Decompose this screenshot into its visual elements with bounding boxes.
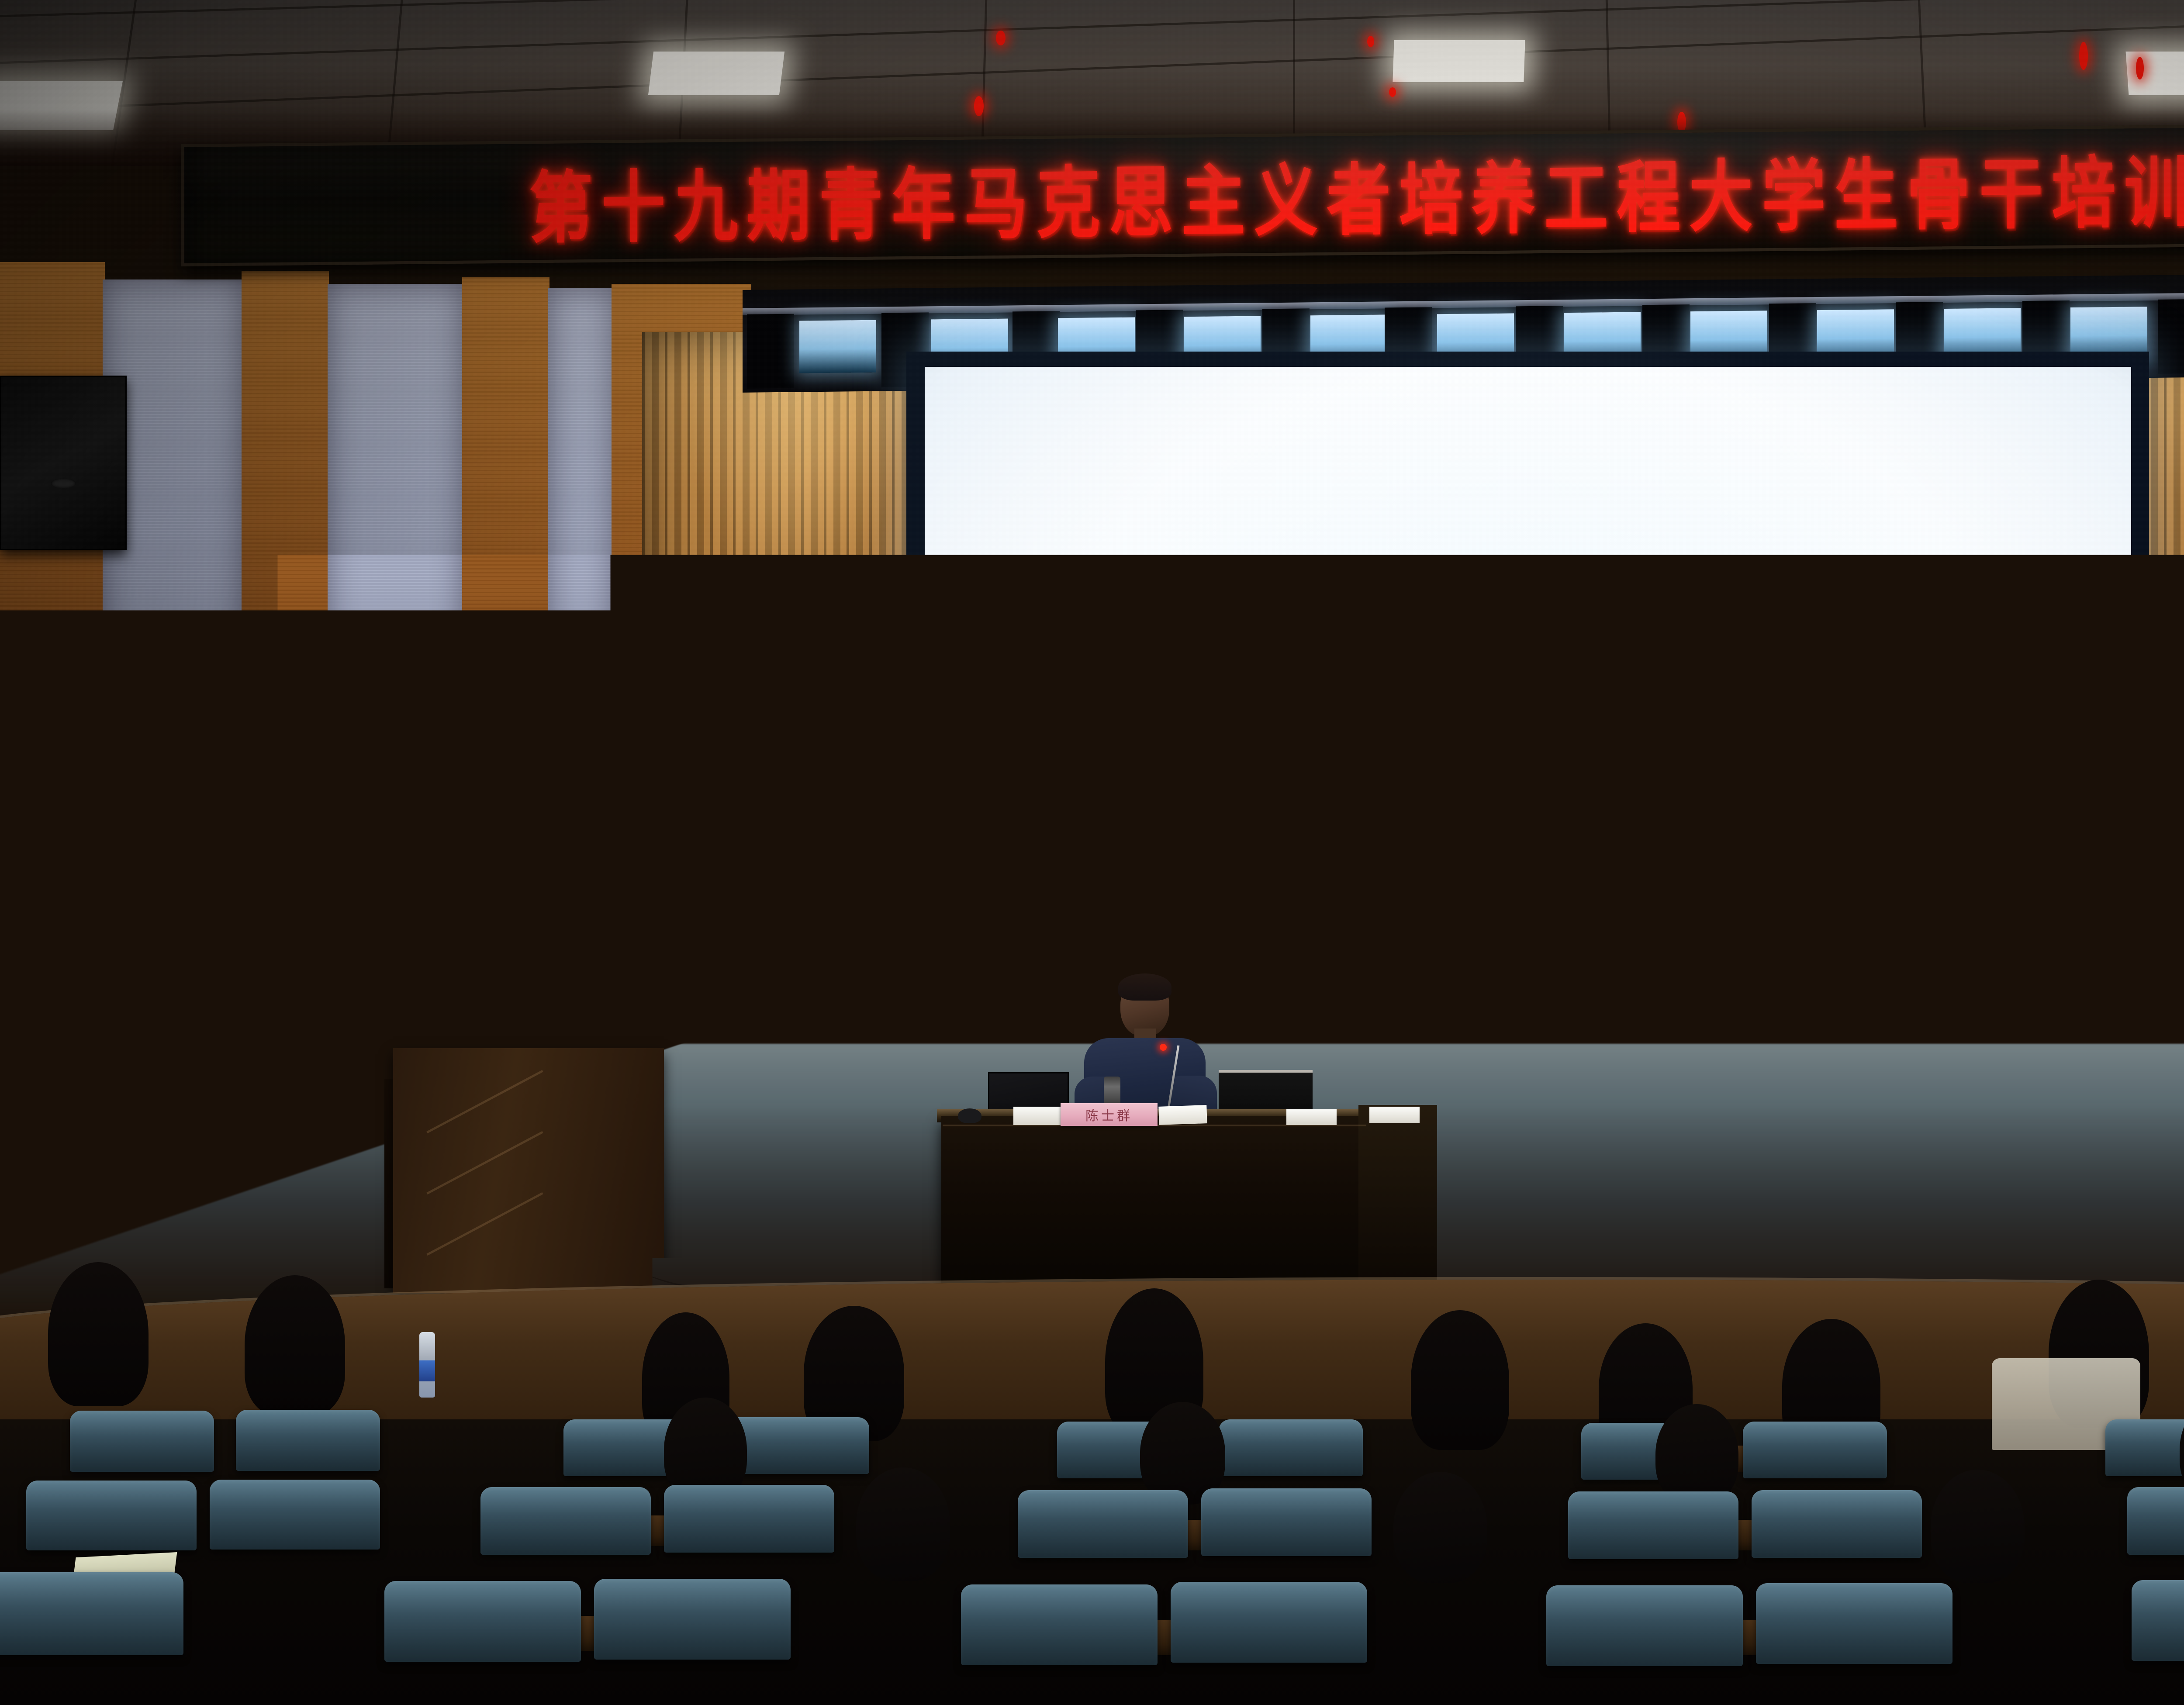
- audience-seat-c7[interactable]: [2132, 1580, 2184, 1661]
- podium-trim-3: [426, 1192, 543, 1256]
- microphone-led-indicator: [1160, 1044, 1167, 1051]
- slide-presenter: 主讲人：陈士群: [1421, 789, 1635, 825]
- audience-seat-a4[interactable]: [1219, 1419, 1363, 1476]
- stage-light-fixture-1: [799, 320, 876, 373]
- audience-seat-a9[interactable]: [70, 1411, 214, 1472]
- audience-seat-c1[interactable]: [384, 1581, 581, 1662]
- presenter-name-card-text: 陈士群: [1085, 1105, 1133, 1124]
- ceiling-light-4: [2126, 52, 2184, 95]
- slide-subtitle: ——浅谈我的教育观: [1306, 681, 1802, 747]
- audience-seat-d7[interactable]: [2127, 1672, 2184, 1705]
- truss-block-1: [747, 314, 794, 389]
- presenter-person: [1075, 976, 1214, 1120]
- audience-seat-a10[interactable]: [236, 1410, 380, 1471]
- wall-wood-left-2: [242, 271, 329, 996]
- audience-seat-b1[interactable]: [480, 1487, 651, 1555]
- audience-seat-d4[interactable]: [1109, 1674, 1345, 1705]
- stage-podium: [393, 1048, 664, 1293]
- led-banner-text: 第十九期青年马克思主义者培养工程大学生骨干培训班专题报告: [529, 126, 2184, 258]
- auditorium-photo: 第十九期青年马克思主义者培养工程大学生骨干培训班专题报告: [0, 0, 2184, 1705]
- led-reflection-6: [1389, 87, 1396, 97]
- paper-sheet-left: [1013, 1107, 1065, 1125]
- ceiling-light-2: [648, 52, 784, 95]
- water-bottle-label: [419, 1360, 435, 1381]
- audience-seat-b4[interactable]: [1201, 1488, 1372, 1556]
- audience-seat-b9[interactable]: [26, 1481, 197, 1550]
- audience-seat-c9[interactable]: [0, 1572, 183, 1655]
- audience-head-c2: [1393, 1472, 1487, 1583]
- paper-sheet-right: [1158, 1105, 1207, 1125]
- audience-seat-a7[interactable]: [2105, 1419, 2184, 1476]
- loudspeaker-icon-left: [0, 376, 127, 550]
- truss-block-12: [2158, 299, 2184, 374]
- projection-screen: 当代青年应有的价值取向 ——浅谈我的教育观 主讲人：陈士群: [925, 367, 2131, 1030]
- slide-title: 当代青年应有的价值取向: [1196, 598, 1859, 671]
- audience-head-r1-1: [48, 1262, 149, 1406]
- presenter-name-card: 陈士群: [1061, 1103, 1158, 1126]
- presenter-hair: [1118, 973, 1171, 1001]
- stage-curtain-left: [642, 332, 948, 1070]
- audience-seat-c6[interactable]: [1756, 1583, 1952, 1664]
- slide-content: 当代青年应有的价值取向 ——浅谈我的教育观 主讲人：陈士群: [925, 367, 2131, 1030]
- audience-head-b3: [1655, 1404, 1738, 1505]
- paper-sheet-far-2: [1369, 1107, 1420, 1123]
- audience-seat-d3[interactable]: [860, 1675, 1096, 1705]
- audience-seat-b2[interactable]: [664, 1485, 834, 1553]
- audience-seat-c2[interactable]: [594, 1579, 791, 1660]
- audience-head-r1-2: [245, 1275, 345, 1415]
- wall-panel-left-3: [548, 288, 614, 996]
- wall-wood-left-1: [0, 262, 105, 996]
- head-table: [941, 1116, 1367, 1293]
- paper-sheet-far: [1286, 1109, 1337, 1125]
- head-table-right-section: [1358, 1105, 1437, 1288]
- audience-head-c1: [856, 1467, 950, 1581]
- audience-seat-d1[interactable]: [227, 1673, 463, 1705]
- audience-seat-d9[interactable]: [0, 1668, 210, 1705]
- audience-seat-b7[interactable]: [2127, 1487, 2184, 1555]
- audience-seat-d2[interactable]: [476, 1670, 712, 1705]
- audience-seat-a6[interactable]: [1743, 1422, 1887, 1478]
- audience-head-c3: [1931, 1470, 2025, 1583]
- led-reflection-4: [2136, 57, 2144, 79]
- led-reflection-1: [996, 31, 1006, 45]
- audience-seat-c5[interactable]: [1546, 1585, 1743, 1666]
- mouse-icon: [958, 1108, 981, 1123]
- audience-seat-b3[interactable]: [1018, 1490, 1188, 1558]
- wall-wood-left-3: [462, 277, 549, 998]
- podium-trim-1: [426, 1070, 543, 1133]
- podium-trim-2: [426, 1131, 543, 1194]
- audience-seat-b5[interactable]: [1568, 1491, 1738, 1559]
- audience-head-r1-6: [1411, 1310, 1509, 1450]
- projection-screen-frame: 当代青年应有的价值取向 ——浅谈我的教育观 主讲人：陈士群: [906, 352, 2149, 1046]
- led-reflection-2: [1367, 36, 1374, 47]
- audience-seat-b10[interactable]: [210, 1480, 380, 1550]
- led-reflection-3: [2079, 42, 2088, 70]
- audience-seat-d5[interactable]: [1494, 1676, 1730, 1705]
- audience-seat-c4[interactable]: [1171, 1582, 1367, 1663]
- ceiling-light-3: [1393, 40, 1525, 82]
- wall-panel-left-2: [328, 284, 463, 996]
- audience-seat-d6[interactable]: [1743, 1675, 1979, 1705]
- audience-seat-c3[interactable]: [961, 1584, 1158, 1665]
- audience-seat-b6[interactable]: [1752, 1490, 1922, 1558]
